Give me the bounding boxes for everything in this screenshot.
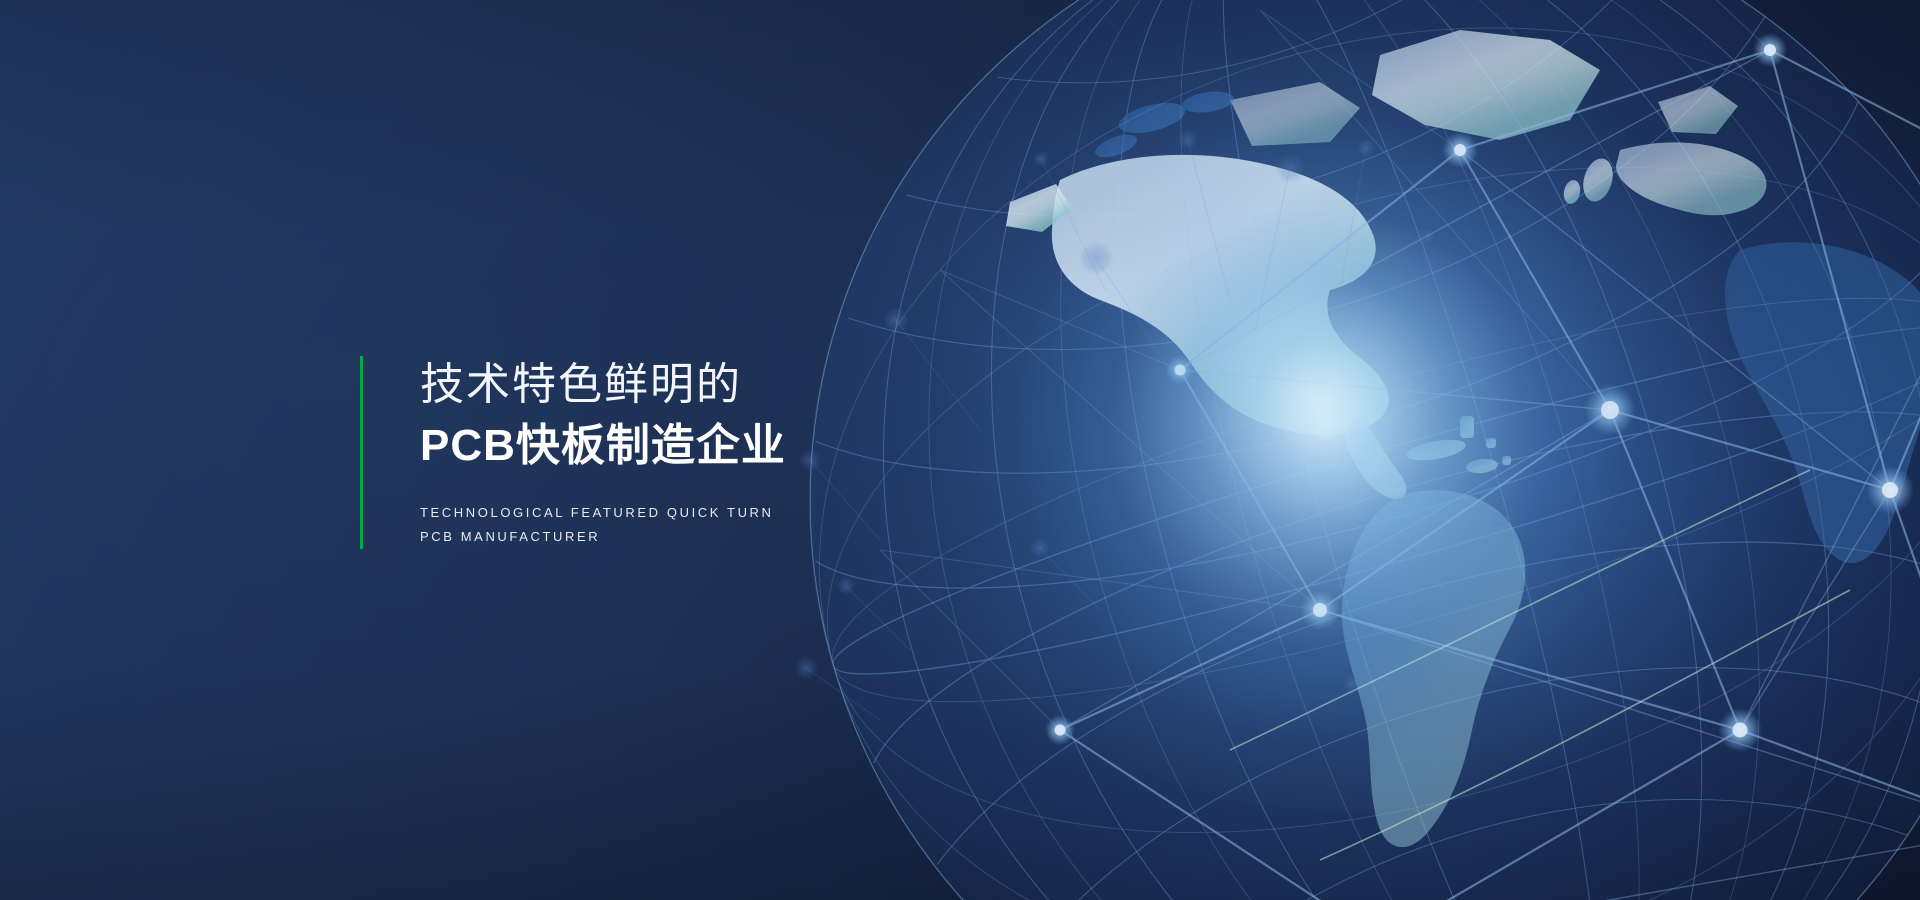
hero-banner: 技术特色鲜明的 PCB快板制造企业 TECHNOLOGICAL FEATURED… [0, 0, 1920, 900]
hero-text-block: 技术特色鲜明的 PCB快板制造企业 TECHNOLOGICAL FEATURED… [360, 356, 786, 549]
green-accent-bar [360, 356, 363, 549]
headline-line-1: 技术特色鲜明的 [420, 358, 786, 413]
headline-line-2: PCB快板制造企业 [420, 419, 786, 474]
background-vignette [0, 0, 1920, 900]
hero-text-column: 技术特色鲜明的 PCB快板制造企业 TECHNOLOGICAL FEATURED… [420, 356, 786, 549]
hero-subtitle: TECHNOLOGICAL FEATURED QUICK TURN PCB MA… [420, 501, 786, 549]
subtitle-line-1: TECHNOLOGICAL FEATURED QUICK TURN [420, 501, 786, 525]
subtitle-line-2: PCB MANUFACTURER [420, 525, 786, 549]
